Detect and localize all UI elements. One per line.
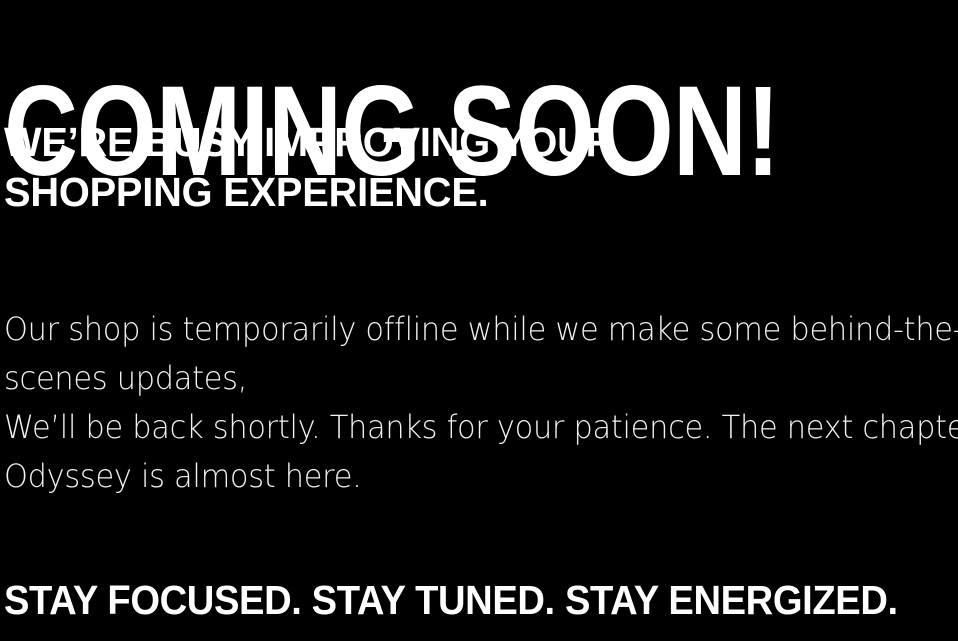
body-copy-block: Our shop is temporarily offline while we… <box>4 305 907 501</box>
subheading-line-1: WE’RE BUSY IMPROVING YOUR <box>4 117 614 167</box>
subheading-line-2: SHOPPING EXPERIENCE. <box>4 167 614 217</box>
footer-tagline: STAY FOCUSED. STAY TUNED. STAY ENERGIZED… <box>4 576 898 624</box>
body-line-4: Odyssey is almost here. <box>4 452 907 501</box>
subheading-block: WE’RE BUSY IMPROVING YOUR SHOPPING EXPER… <box>4 117 614 217</box>
body-line-2: scenes updates, <box>4 354 907 403</box>
coming-soon-page: COMING SOON! WE’RE BUSY IMPROVING YOUR S… <box>0 0 958 641</box>
body-line-3: We’ll be back shortly. Thanks for your p… <box>4 403 907 452</box>
body-line-1: Our shop is temporarily offline while we… <box>4 305 907 354</box>
